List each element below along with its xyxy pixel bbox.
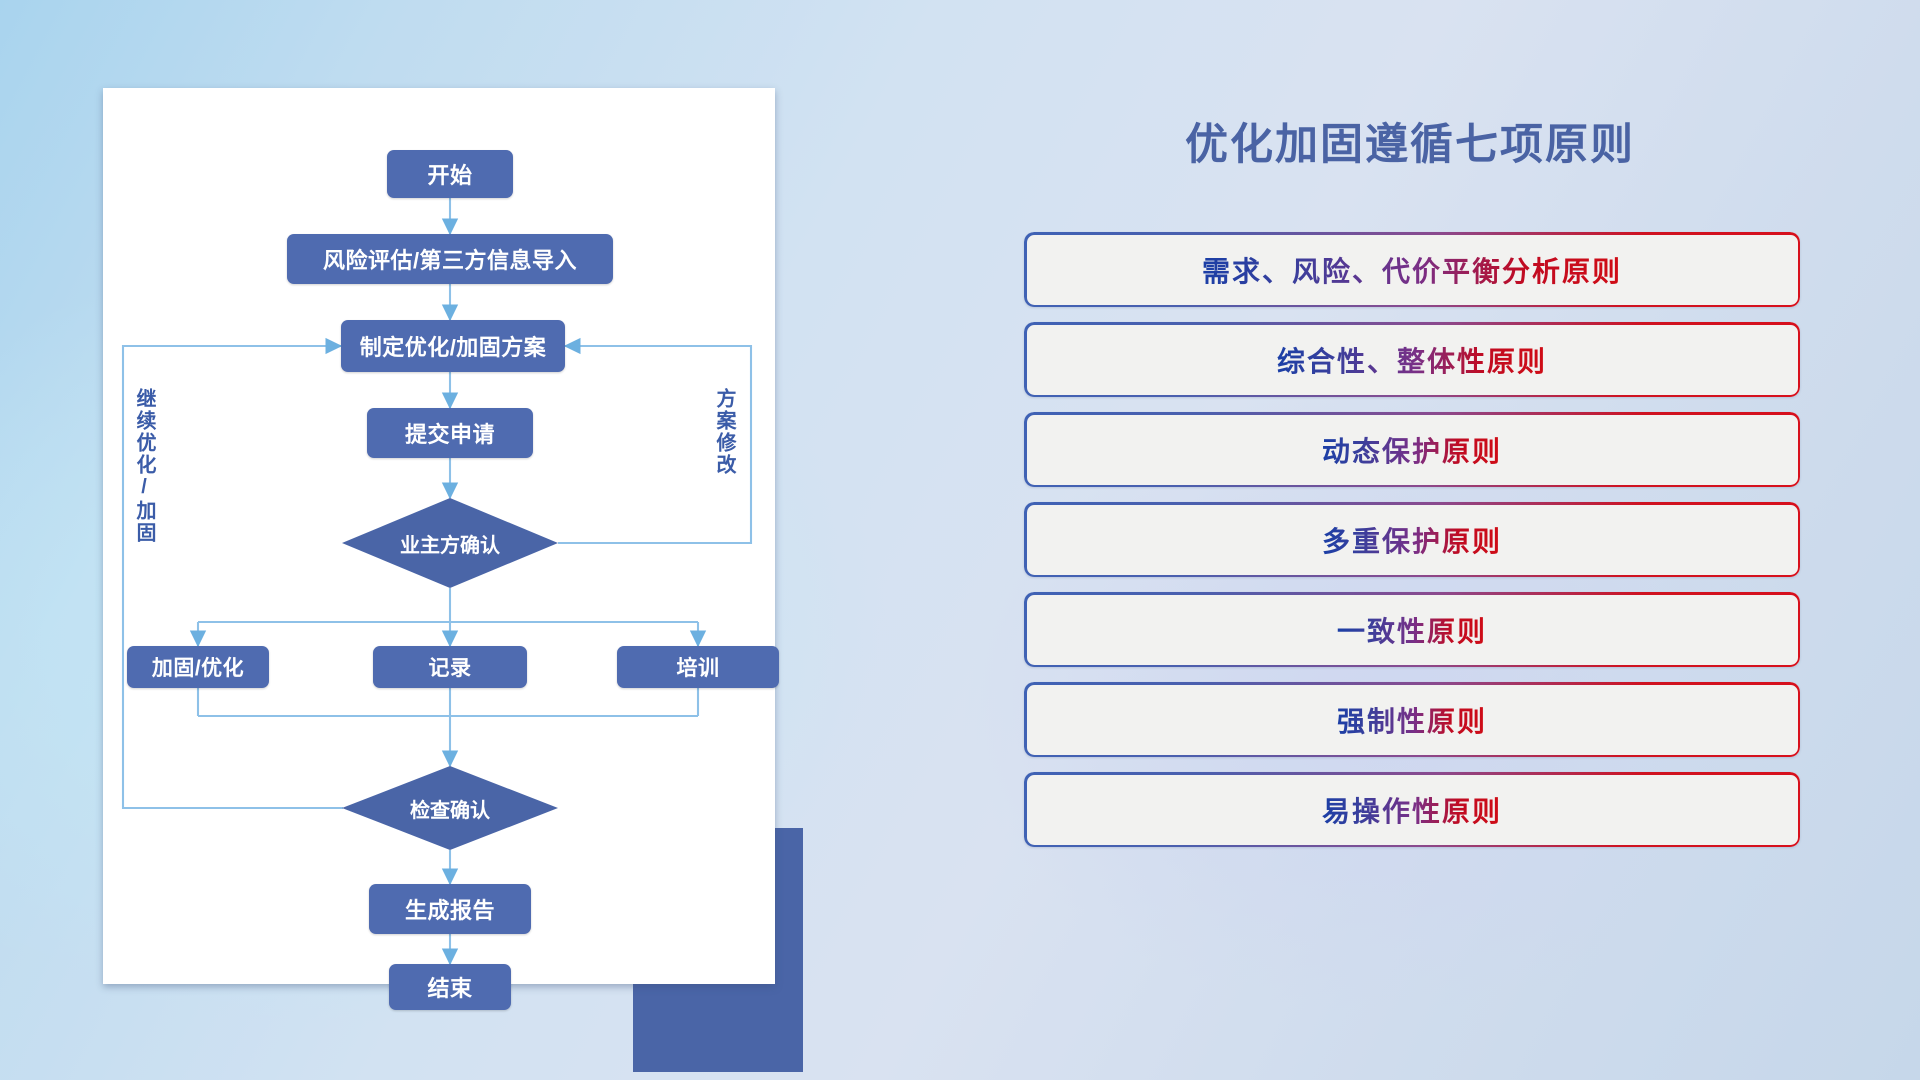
principle-card-label: 一致性原则 bbox=[1337, 610, 1487, 650]
flow-node-start[interactable]: 开始 bbox=[387, 150, 513, 198]
principle-card[interactable]: 强制性原则 bbox=[1024, 682, 1800, 757]
flow-node-label: 风险评估/第三方信息导入 bbox=[323, 243, 577, 275]
principle-card[interactable]: 多重保护原则 bbox=[1024, 502, 1800, 577]
flow-node-label: 生成报告 bbox=[405, 893, 495, 925]
principle-card[interactable]: 一致性原则 bbox=[1024, 592, 1800, 667]
flow-node-label: 记录 bbox=[429, 652, 472, 682]
flow-node-plan[interactable]: 制定优化/加固方案 bbox=[341, 320, 565, 372]
principle-card-label: 综合性、整体性原则 bbox=[1277, 340, 1547, 380]
principles-list: 需求、风险、代价平衡分析原则 综合性、整体性原则 动态保护原则 多重保护原则 一… bbox=[1024, 232, 1800, 862]
flow-node-label: 制定优化/加固方案 bbox=[360, 330, 547, 362]
flowchart-card: 开始 风险评估/第三方信息导入 制定优化/加固方案 提交申请 业主方确认 加固/… bbox=[103, 88, 775, 984]
flow-node-label: 培训 bbox=[677, 652, 720, 682]
flowchart-panel: 开始 风险评估/第三方信息导入 制定优化/加固方案 提交申请 业主方确认 加固/… bbox=[103, 88, 775, 968]
flow-node-label: 加固/优化 bbox=[152, 652, 244, 682]
principle-card-label: 强制性原则 bbox=[1337, 700, 1487, 740]
flow-node-training[interactable]: 培训 bbox=[617, 646, 779, 688]
principle-card[interactable]: 易操作性原则 bbox=[1024, 772, 1800, 847]
flow-node-submit-application[interactable]: 提交申请 bbox=[367, 408, 533, 458]
edge-label-plan-revision: 方案修改 bbox=[713, 388, 734, 476]
flow-node-label: 开始 bbox=[427, 158, 472, 190]
principles-title: 优化加固遵循七项原则 bbox=[1020, 110, 1800, 172]
flowchart-connectors bbox=[103, 88, 775, 984]
principle-card[interactable]: 需求、风险、代价平衡分析原则 bbox=[1024, 232, 1800, 307]
principle-card[interactable]: 综合性、整体性原则 bbox=[1024, 322, 1800, 397]
flow-node-end[interactable]: 结束 bbox=[389, 964, 511, 1010]
principle-card[interactable]: 动态保护原则 bbox=[1024, 412, 1800, 487]
flow-node-record[interactable]: 记录 bbox=[373, 646, 527, 688]
flow-node-generate-report[interactable]: 生成报告 bbox=[369, 884, 531, 934]
principle-card-label: 多重保护原则 bbox=[1322, 520, 1502, 560]
flow-node-label: 结束 bbox=[427, 971, 472, 1003]
edge-label-continue-optimize: 继续优化/加固 bbox=[133, 388, 154, 544]
flow-node-risk-assessment[interactable]: 风险评估/第三方信息导入 bbox=[287, 234, 613, 284]
principle-card-label: 易操作性原则 bbox=[1322, 790, 1502, 830]
flow-node-label: 提交申请 bbox=[405, 417, 495, 449]
flow-node-reinforce[interactable]: 加固/优化 bbox=[127, 646, 269, 688]
principle-card-label: 动态保护原则 bbox=[1322, 430, 1502, 470]
principle-card-label: 需求、风险、代价平衡分析原则 bbox=[1202, 250, 1622, 290]
